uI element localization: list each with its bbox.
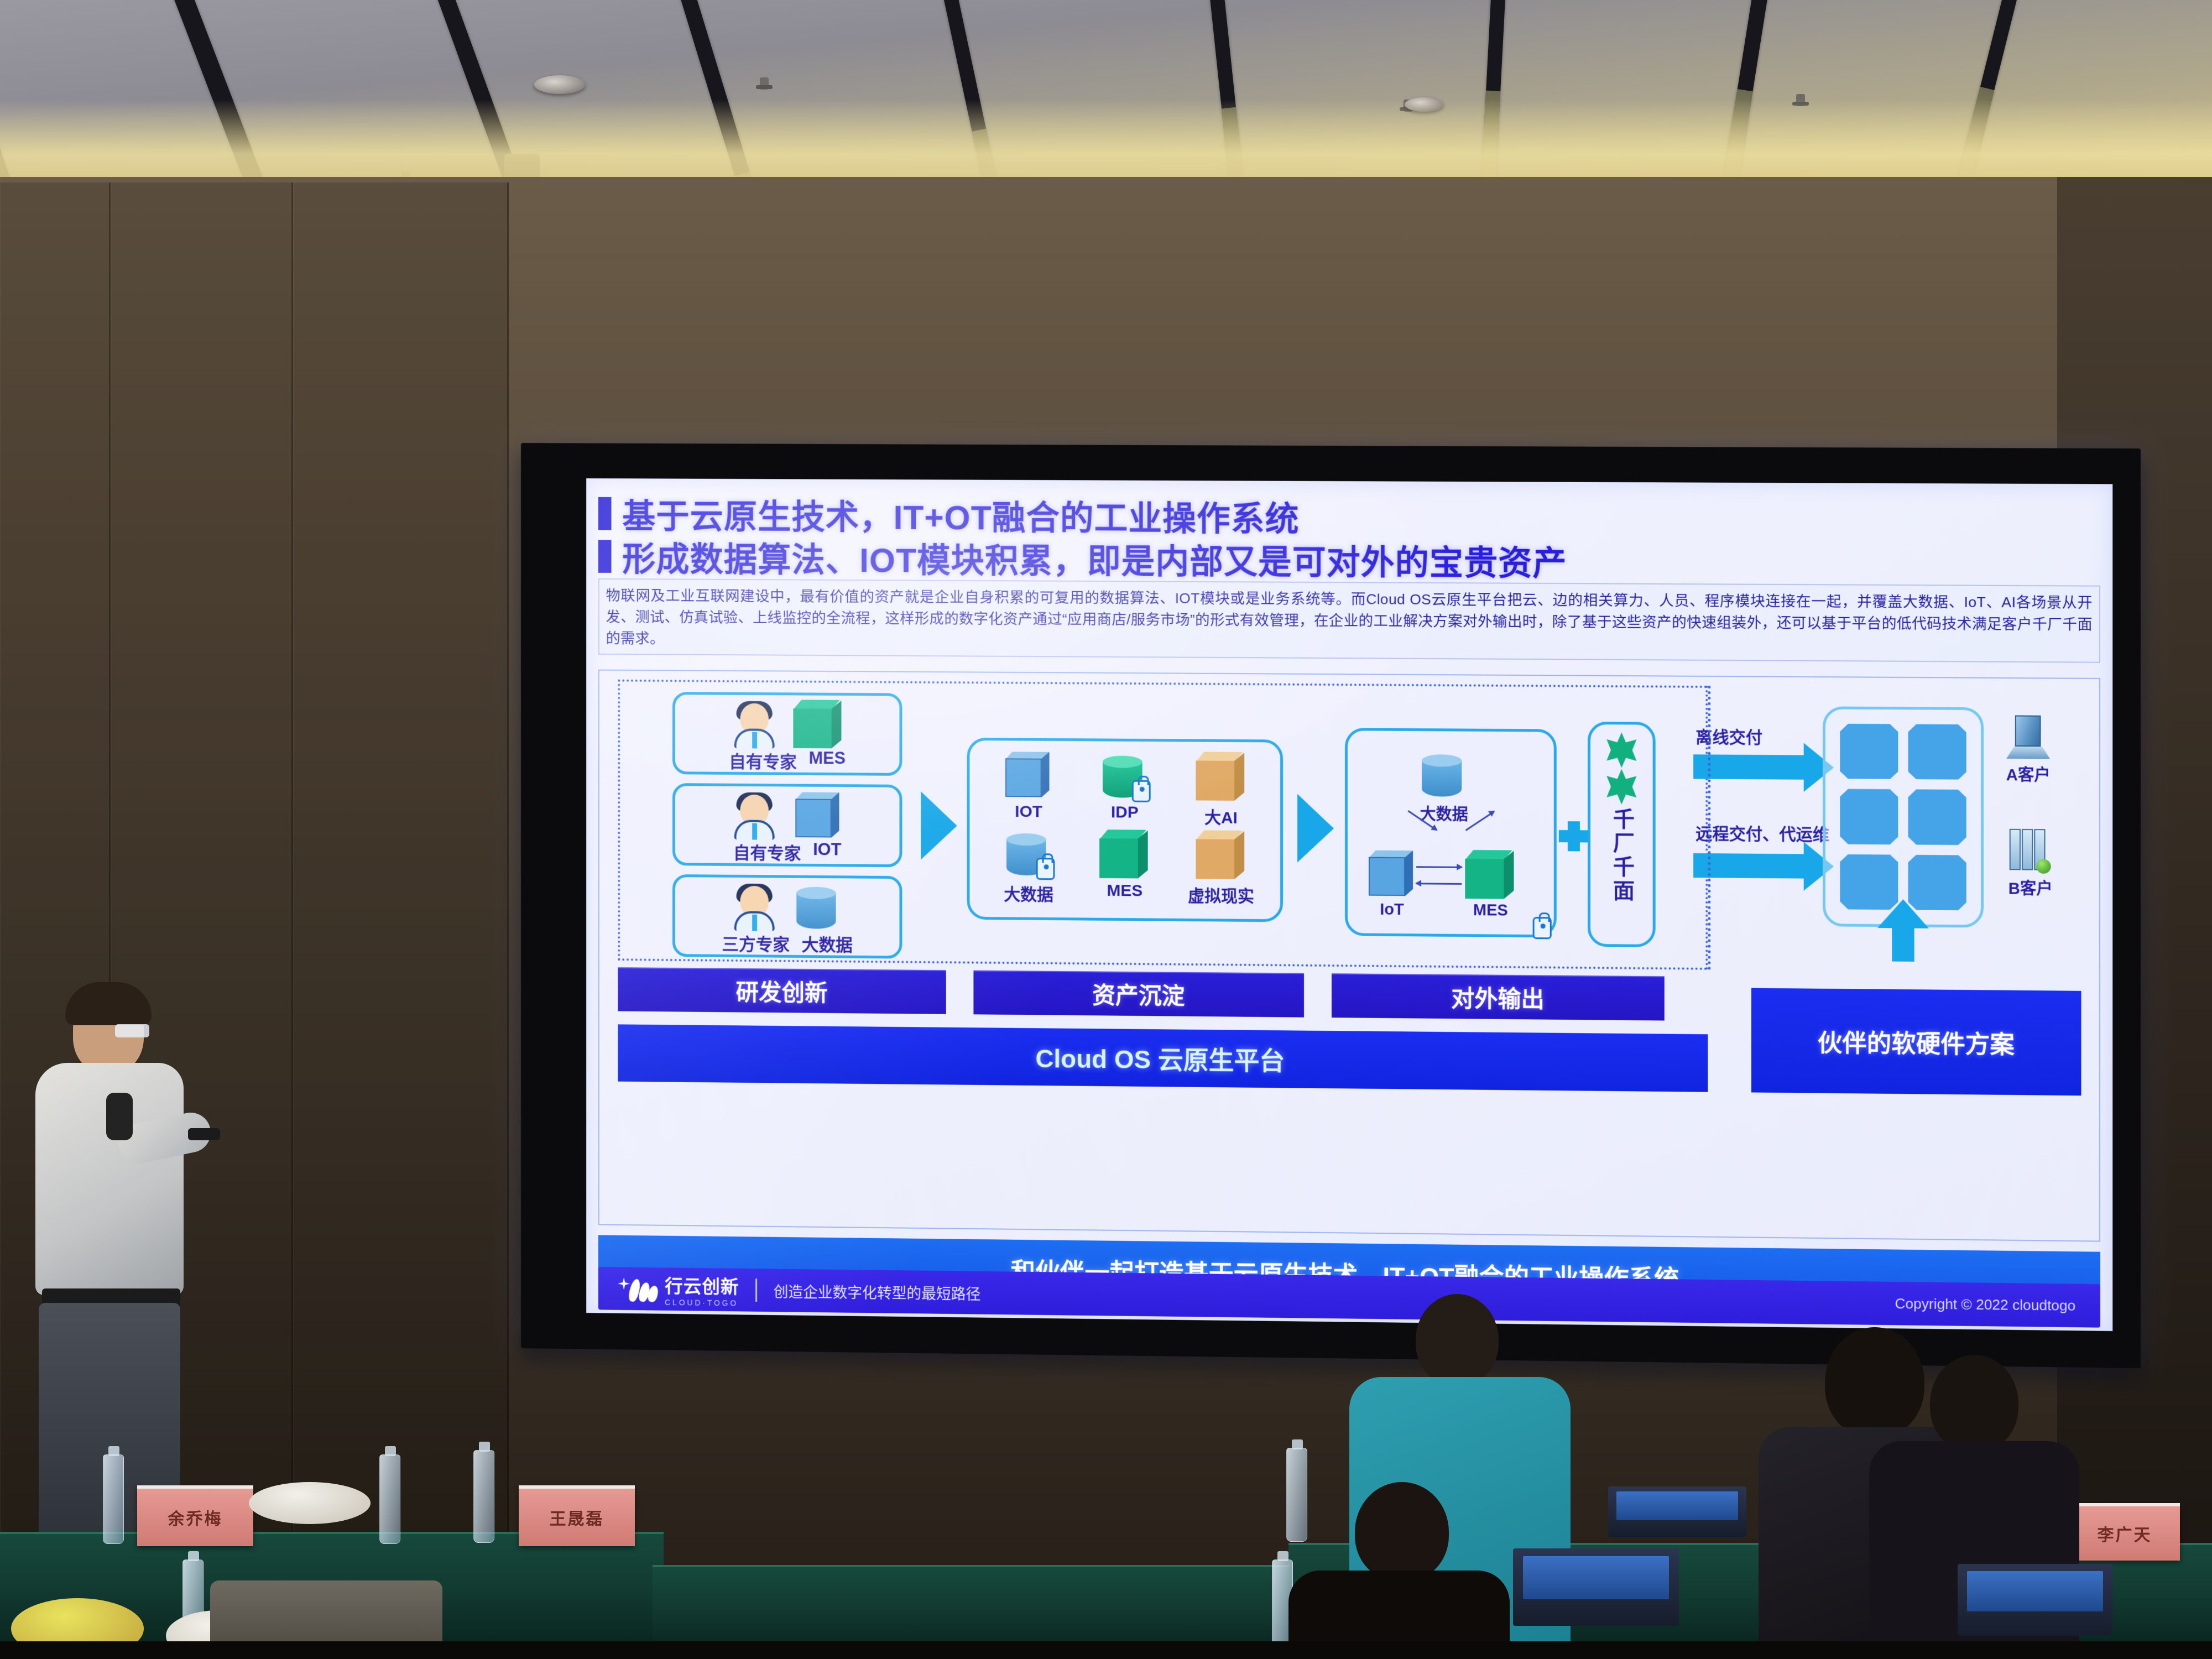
expert-card: 自有专家 IOT <box>672 783 902 867</box>
asset-item: 大数据 <box>980 829 1077 908</box>
footer-divider <box>755 1279 757 1302</box>
cube-green-icon <box>1465 850 1516 901</box>
title-accent-bar <box>598 497 612 530</box>
name-placard: 王晟磊 <box>519 1485 635 1546</box>
stage-bar-rd: 研发创新 <box>618 967 946 1014</box>
architecture-diagram: 自有专家 MES <box>598 670 2100 1242</box>
client-label: B客户 <box>2008 875 2053 899</box>
client-label: A客户 <box>2006 762 2051 786</box>
presentation-clicker <box>188 1128 220 1140</box>
asset-item: 大AI <box>1173 752 1269 831</box>
delivery-arrow-offline <box>1693 754 1834 780</box>
asset-label: MES <box>1107 881 1142 900</box>
logo-name-cn: 行云创新 <box>665 1271 739 1298</box>
wall-panel <box>293 182 509 1659</box>
cube-green-icon <box>1099 830 1150 881</box>
microphone-icon <box>106 1093 133 1140</box>
delivery-arrow-remote <box>1693 853 1834 879</box>
relation-arrow <box>1465 811 1495 831</box>
connector-cross-icon <box>1559 821 1589 852</box>
name-placard: 李广天 <box>2069 1503 2180 1561</box>
projection-screen-frame: 基于云原生技术，IT+OT融合的工业操作系统 形成数据算法、IOT模块积累，即是… <box>521 443 2141 1368</box>
stage-bar-output: 对外输出 <box>1332 973 1665 1020</box>
experts-column: 自有专家 MES <box>672 692 902 967</box>
client-a: A客户 <box>2006 714 2051 785</box>
cube-orange-icon <box>1196 830 1246 881</box>
person-icon <box>731 701 778 749</box>
title-line-2: 形成数据算法、IOT模块积累，即是内部又是可对外的宝贵资产 <box>586 534 2112 585</box>
expert-asset: MES <box>808 748 846 773</box>
expert-card: 自有专家 MES <box>672 692 902 776</box>
expert-asset: 大数据 <box>802 931 853 956</box>
foreground-shadow <box>0 1641 2212 1659</box>
square-blue-icon <box>1366 849 1417 901</box>
footer-copyright: Copyright © 2022 cloudtogo <box>1895 1295 2076 1314</box>
title-text-2: 形成数据算法、IOT模块积累，即是内部又是可对外的宝贵资产 <box>622 531 1567 585</box>
cylinder-blue-icon <box>1418 750 1469 801</box>
cube-green-icon <box>793 700 843 750</box>
expert-role: 三方专家 <box>722 930 790 956</box>
asset-item: IOT <box>980 750 1077 830</box>
asset-label: IDP <box>1111 803 1139 822</box>
asset-item: 虚拟现实 <box>1173 830 1269 909</box>
attendee-head <box>1355 1482 1449 1582</box>
stage-bar-assets: 资产沉淀 <box>973 971 1304 1018</box>
platform-bar: Cloud OS 云原生平台 <box>618 1024 1708 1092</box>
lock-icon <box>1533 917 1552 939</box>
lock-icon <box>1132 780 1151 802</box>
square-blue-icon <box>1003 750 1053 801</box>
upward-flow-stem <box>1892 927 1914 962</box>
thousand-factories-label: 千厂千面 <box>1606 808 1637 904</box>
asset-label: 大AI <box>1204 804 1238 828</box>
attendee <box>1288 1482 1510 1659</box>
output-object-label: 大数据 <box>1420 801 1468 825</box>
ceiling-speaker-icon <box>534 75 585 94</box>
flow-arrow-2 <box>1297 794 1334 863</box>
delivery-mode-label: 离线交付 <box>1695 723 1762 748</box>
output-object-label: IoT <box>1380 901 1404 919</box>
person-icon <box>731 884 778 931</box>
dotted-divider <box>1708 686 1710 970</box>
asset-label: IOT <box>1015 802 1042 821</box>
star-icon <box>1604 732 1639 768</box>
square-blue-icon <box>793 791 843 842</box>
brand-logo: 行云创新 CLOUD·TOGO <box>618 1271 739 1307</box>
cloudtogo-logo-icon <box>618 1274 657 1303</box>
output-object: 大数据 <box>1418 750 1469 825</box>
slide-title-block: 基于云原生技术，IT+OT融合的工业操作系统 形成数据算法、IOT模块积累，即是… <box>586 492 2112 585</box>
attendee-head <box>1930 1355 2018 1452</box>
sprinkler-icon <box>760 77 769 90</box>
snack-basket <box>249 1482 371 1524</box>
water-bottle <box>103 1454 124 1544</box>
client-b: B客户 <box>2008 828 2053 899</box>
output-object: MES <box>1465 850 1516 920</box>
partner-solutions-bar: 伙伴的软硬件方案 <box>1751 988 2081 1096</box>
output-object-label: MES <box>1473 901 1508 920</box>
building-icon <box>2006 714 2050 761</box>
asset-label: 虚拟现实 <box>1188 882 1254 907</box>
thousand-factories-box: 千厂千面 <box>1588 722 1656 947</box>
laptop <box>1608 1486 1746 1537</box>
customer-block <box>1840 724 1898 780</box>
water-bottle <box>473 1450 494 1543</box>
star-icon <box>1604 769 1639 805</box>
presentation-slide: 基于云原生技术，IT+OT融合的工业操作系统 形成数据算法、IOT模块积累，即是… <box>586 478 2112 1331</box>
logo-name-en: CLOUD·TOGO <box>665 1298 739 1307</box>
laptop <box>1513 1548 1679 1626</box>
expert-role: 自有专家 <box>733 839 801 864</box>
slide-body-text: 物联网及工业互联网建设中，最有价值的资产就是企业自身积累的可复用的数据算法、IO… <box>606 585 2093 658</box>
glasses-icon <box>115 1024 149 1037</box>
title-accent-bar <box>598 540 612 573</box>
water-bottle <box>379 1454 400 1544</box>
name-placard: 余乔梅 <box>137 1485 253 1546</box>
attendee-head <box>1416 1294 1499 1386</box>
slide-body-box: 物联网及工业互联网建设中，最有价值的资产就是企业自身积累的可复用的数据算法、IO… <box>598 578 2100 663</box>
asset-label: 大数据 <box>1004 881 1053 906</box>
expert-asset: IOT <box>813 839 841 864</box>
flow-arrow-1 <box>921 791 957 860</box>
cylinder-blue-icon <box>793 883 843 933</box>
solution-assembly-box: 大数据 IoT MES <box>1345 728 1557 937</box>
customer-block <box>1840 789 1898 845</box>
asset-item: MES <box>1077 830 1173 909</box>
relation-arrow <box>1416 866 1462 868</box>
cube-orange-icon <box>1196 752 1246 804</box>
customer-block <box>1908 724 1966 780</box>
laptop <box>1958 1564 2112 1636</box>
asset-repository-box: IOT IDP 大AI <box>967 738 1284 922</box>
customer-block <box>1908 789 1966 845</box>
conference-room-scene: 基于云原生技术，IT+OT融合的工业操作系统 形成数据算法、IOT模块积累，即是… <box>0 0 2212 1659</box>
output-object: IoT <box>1366 849 1417 920</box>
footer-tagline: 创造企业数字化转型的最短路径 <box>774 1280 981 1303</box>
book-icon <box>2010 828 2051 875</box>
expert-role: 自有专家 <box>729 748 797 773</box>
lock-icon <box>1036 858 1055 880</box>
person-icon <box>731 792 778 840</box>
customer-instances-panel <box>1823 706 1984 927</box>
upward-flow-arrow <box>1877 899 1929 928</box>
relation-arrow <box>1416 883 1462 885</box>
asset-item: IDP <box>1077 751 1173 830</box>
expert-card: 三方专家 大数据 <box>672 874 902 959</box>
